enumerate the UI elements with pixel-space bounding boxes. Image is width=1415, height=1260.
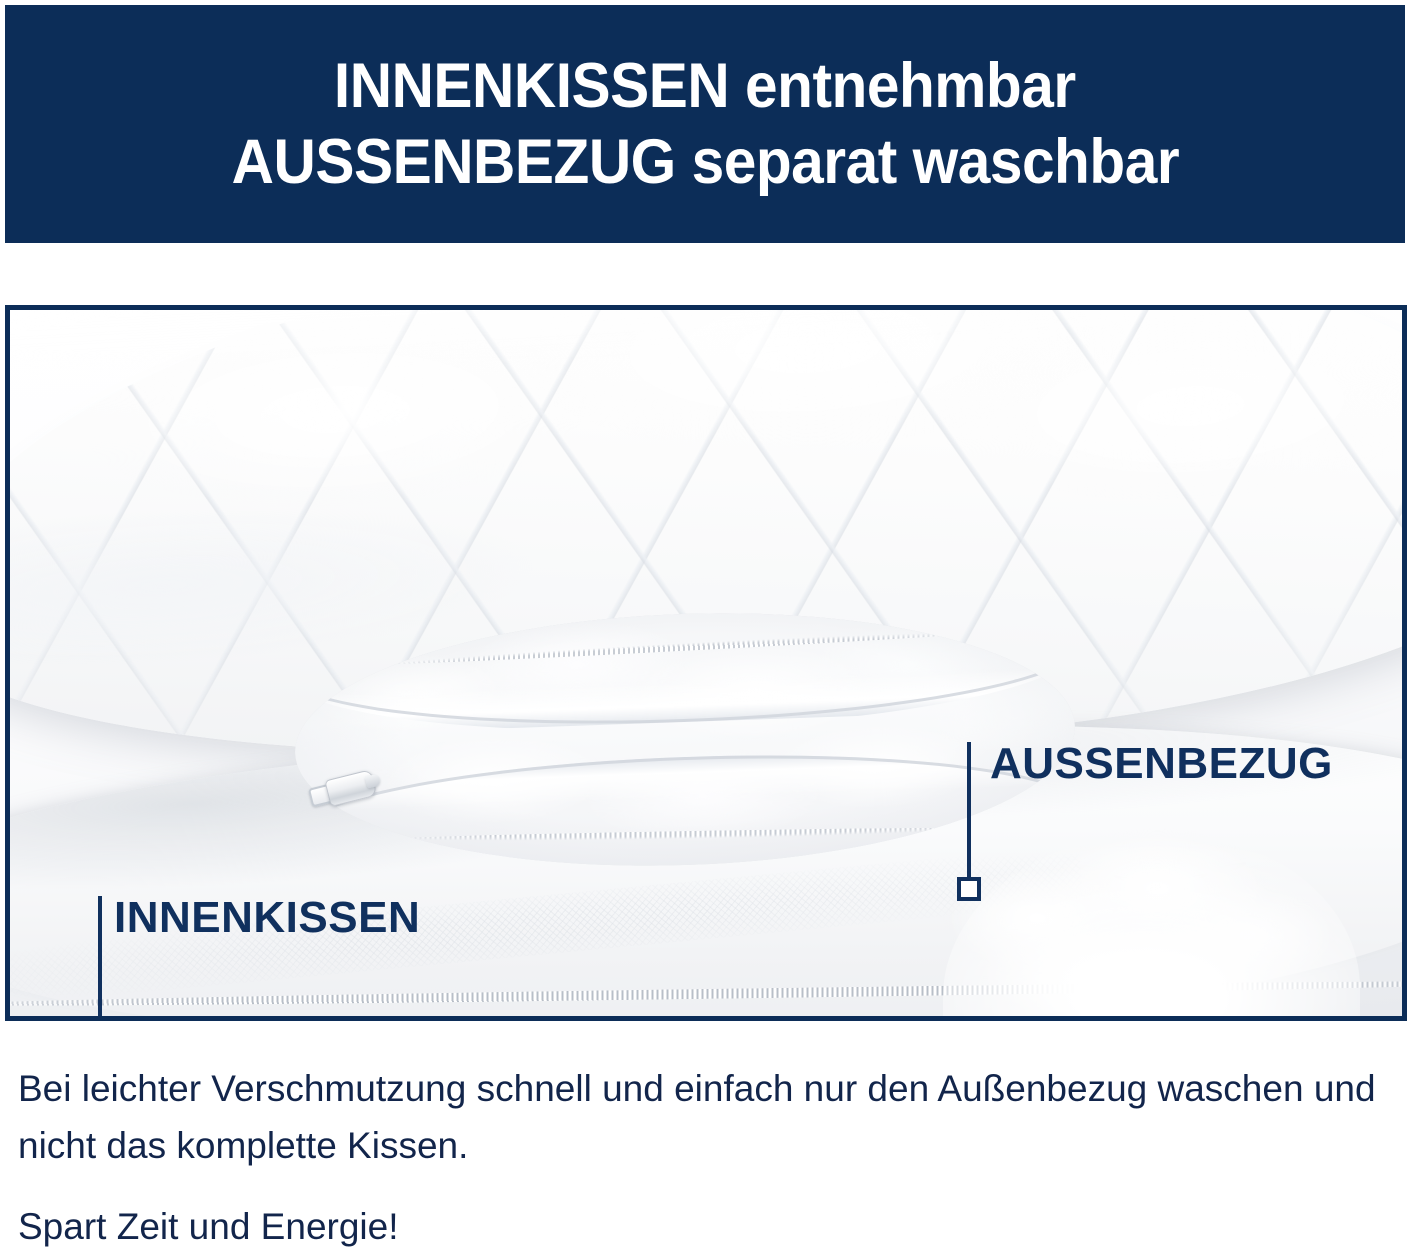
zipper-slider-nose bbox=[365, 774, 381, 789]
callout-label-aussenbezug: AUSSENBEZUG bbox=[990, 742, 1333, 786]
bottom-description: Bei leichter Verschmutzung schnell und e… bbox=[18, 1060, 1408, 1255]
description-paragraph-1: Bei leichter Verschmutzung schnell und e… bbox=[18, 1060, 1408, 1174]
callout-label-innenkissen: INNENKISSEN bbox=[114, 896, 420, 940]
header-banner: INNENKISSEN entnehmbar AUSSENBEZUG separ… bbox=[5, 5, 1405, 243]
leader-line-aussenbezug bbox=[967, 742, 971, 882]
product-photo: AUSSENBEZUG INNENKISSEN bbox=[10, 310, 1402, 1016]
banner-title-line-2: AUSSENBEZUG separat waschbar bbox=[231, 124, 1179, 200]
description-paragraph-2: Spart Zeit und Energie! bbox=[18, 1198, 1408, 1255]
banner-title-line-1: INNENKISSEN entnehmbar bbox=[334, 48, 1076, 124]
marker-square-aussenbezug bbox=[957, 877, 981, 901]
product-photo-panel: AUSSENBEZUG INNENKISSEN bbox=[5, 305, 1407, 1021]
leader-line-innenkissen bbox=[98, 896, 102, 1016]
